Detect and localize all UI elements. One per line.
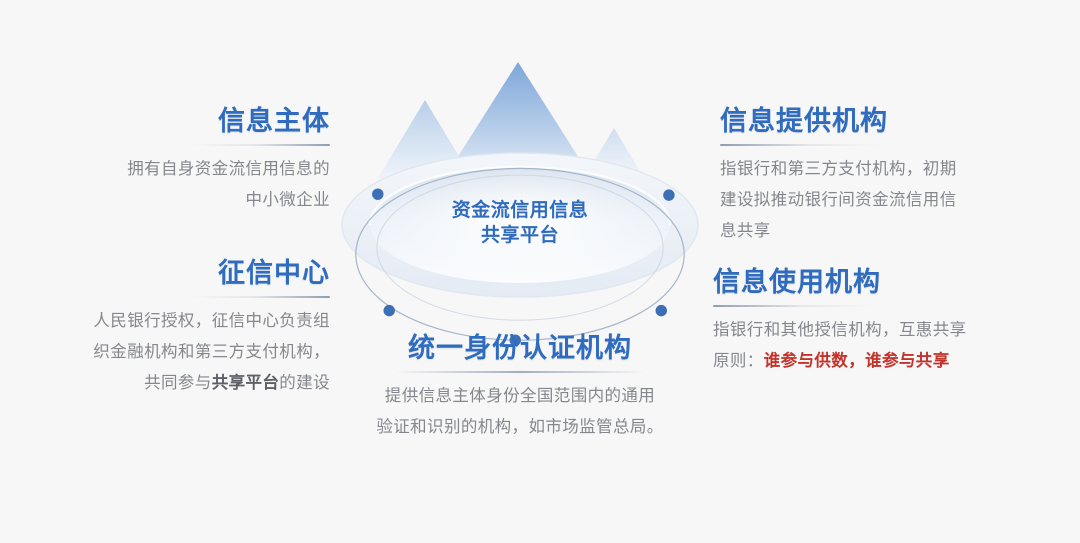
body-line: 人民银行授权，征信中心负责组 [10,305,330,336]
text-run: 织金融机构和第三方支付机构， [93,342,330,361]
text-run: 中小微企业 [246,190,331,209]
platform-title-line-1: 资金流信用信息 [330,198,710,223]
text-run: 的建设 [279,373,330,392]
block-information-subject: 信息主体 拥有自身资金流信用信息的中小微企业 [20,104,330,215]
block-credit-center: 征信中心 人民银行授权，征信中心负责组织金融机构和第三方支付机构，共同参与共享平… [10,256,330,398]
heading-underline [395,371,645,373]
body-line: 验证和识别的机构，如市场监管总局。 [340,411,700,442]
body-line: 指银行和其他授信机构，互惠共享 [713,314,1043,345]
text-run: 人民银行授权，征信中心负责组 [93,311,330,330]
body-credit-center: 人民银行授权，征信中心负责组织金融机构和第三方支付机构，共同参与共享平台的建设 [10,305,330,398]
orbit-dot-lower-left [384,305,395,316]
heading-information-subject: 信息主体 [20,104,330,138]
heading-credit-center: 征信中心 [10,256,330,290]
heading-underline [190,296,330,298]
heading-underline [713,305,873,307]
text-run: 建设拟推动银行间资金流信用信 [720,190,957,209]
body-line: 织金融机构和第三方支付机构， [10,336,330,367]
text-run: 拥有自身资金流信用信息的 [127,159,330,178]
body-information-provider: 指银行和第三方支付机构，初期建设拟推动银行间资金流信用信息共享 [720,153,1040,246]
text-run: 验证和识别的机构，如市场监管总局。 [376,417,663,436]
text-run: 提供信息主体身份全国范围内的通用 [385,386,655,405]
body-line: 中小微企业 [20,184,330,215]
text-run: 谁参与供数，谁参与共享 [764,351,950,370]
text-run: 共享平台 [212,373,280,392]
heading-information-user: 信息使用机构 [713,265,1043,299]
heading-underline [720,144,880,146]
text-run: 原则： [713,351,764,370]
orbit-dot-lower-right [656,305,667,316]
body-line: 建设拟推动银行间资金流信用信 [720,184,1040,215]
heading-identity-authority: 统一身份认证机构 [340,331,700,365]
body-information-user: 指银行和其他授信机构，互惠共享原则：谁参与供数，谁参与共享 [713,314,1043,376]
body-line: 提供信息主体身份全国范围内的通用 [340,380,700,411]
text-run: 息共享 [720,221,771,240]
infographic-canvas: 资金流信用信息 共享平台 信息主体 拥有自身资金流信用信息的中小微企业 征信中心… [0,0,1080,543]
body-identity-authority: 提供信息主体身份全国范围内的通用验证和识别的机构，如市场监管总局。 [340,380,700,442]
center-graphic: 资金流信用信息 共享平台 [330,40,710,340]
body-line: 拥有自身资金流信用信息的 [20,153,330,184]
body-line: 共同参与共享平台的建设 [10,367,330,398]
body-information-subject: 拥有自身资金流信用信息的中小微企业 [20,153,330,215]
platform-title-line-2: 共享平台 [330,223,710,248]
block-identity-authority: 统一身份认证机构 提供信息主体身份全国范围内的通用验证和识别的机构，如市场监管总… [340,331,700,442]
block-information-provider: 信息提供机构 指银行和第三方支付机构，初期建设拟推动银行间资金流信用信息共享 [720,104,1040,246]
heading-underline [190,144,330,146]
body-line: 息共享 [720,215,1040,246]
platform-title: 资金流信用信息 共享平台 [330,198,710,248]
body-line: 原则：谁参与供数，谁参与共享 [713,345,1043,376]
text-run: 指银行和其他授信机构，互惠共享 [713,320,967,339]
text-run: 共同参与 [144,373,212,392]
heading-information-provider: 信息提供机构 [720,104,1040,138]
body-line: 指银行和第三方支付机构，初期 [720,153,1040,184]
text-run: 指银行和第三方支付机构，初期 [720,159,957,178]
block-information-user: 信息使用机构 指银行和其他授信机构，互惠共享原则：谁参与供数，谁参与共享 [713,265,1043,376]
